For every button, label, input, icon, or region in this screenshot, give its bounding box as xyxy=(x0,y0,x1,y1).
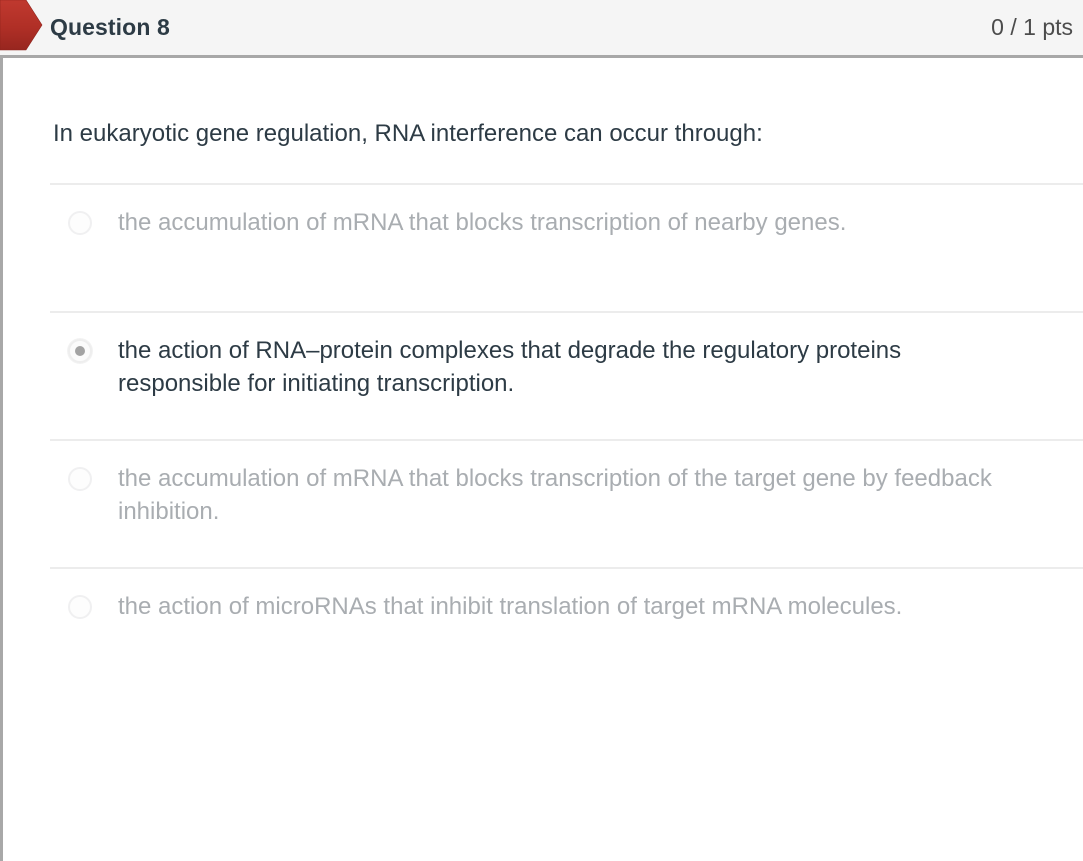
answer-option-4[interactable]: the action of microRNAs that inhibit tra… xyxy=(50,567,1083,695)
radio-unselected-icon[interactable] xyxy=(68,595,92,619)
answer-option-3[interactable]: the accumulation of mRNA that blocks tra… xyxy=(50,439,1083,567)
question-title: Question 8 xyxy=(50,14,170,41)
answer-option-label: the action of microRNAs that inhibit tra… xyxy=(118,591,998,623)
quiz-question-card: Question 8 0 / 1 pts In eukaryotic gene … xyxy=(0,0,1083,861)
radio-unselected-icon[interactable] xyxy=(68,467,92,491)
answer-option-label: the action of RNA–protein complexes that… xyxy=(118,335,998,399)
question-prompt: In eukaryotic gene regulation, RNA inter… xyxy=(3,58,1083,150)
question-points-badge: 0 / 1 pts xyxy=(991,14,1073,41)
question-header: Question 8 0 / 1 pts xyxy=(0,0,1083,58)
answer-option-2[interactable]: the action of RNA–protein complexes that… xyxy=(50,311,1083,439)
answer-option-label: the accumulation of mRNA that blocks tra… xyxy=(118,207,998,239)
answer-list: the accumulation of mRNA that blocks tra… xyxy=(3,183,1083,695)
radio-unselected-icon[interactable] xyxy=(68,211,92,235)
question-body: In eukaryotic gene regulation, RNA inter… xyxy=(0,58,1083,861)
answer-option-label: the accumulation of mRNA that blocks tra… xyxy=(118,463,998,527)
answer-option-1[interactable]: the accumulation of mRNA that blocks tra… xyxy=(50,183,1083,311)
radio-selected-icon[interactable] xyxy=(68,339,92,363)
